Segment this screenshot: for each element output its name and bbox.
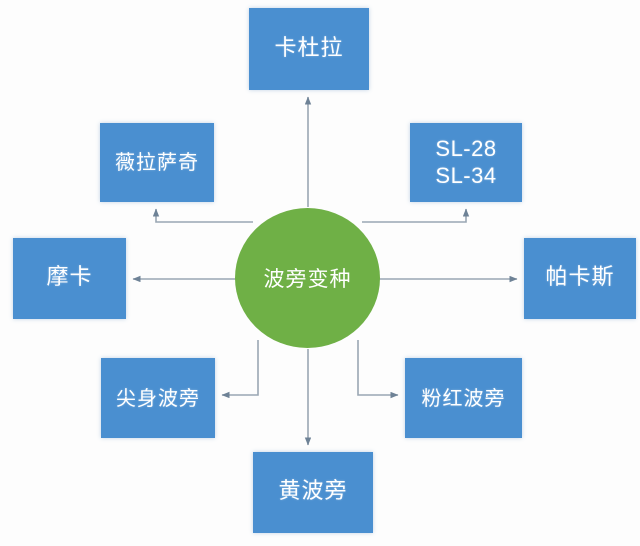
node-fenhong[interactable]: 粉红波旁 — [405, 358, 522, 438]
connector-center-to-fenhong — [358, 340, 398, 395]
connector-center-to-jianshen — [222, 340, 258, 395]
node-sl-label-line1: SL-28 — [410, 136, 522, 163]
node-huang-label: 黄波旁 — [253, 479, 373, 506]
node-katura-label: 卡杜拉 — [249, 36, 369, 63]
node-pakasi[interactable]: 帕卡斯 — [524, 238, 636, 319]
connector-center-to-weilasaqi — [156, 209, 253, 222]
node-jianshen[interactable]: 尖身波旁 — [101, 358, 215, 438]
node-katura[interactable]: 卡杜拉 — [249, 8, 369, 90]
diagram-canvas: 卡杜拉 薇拉萨奇 SL-28 SL-34 摩卡 帕卡斯 尖身波旁 粉红波旁 黄波… — [0, 0, 640, 546]
node-sl[interactable]: SL-28 SL-34 — [410, 123, 522, 202]
node-weilasaqi[interactable]: 薇拉萨奇 — [100, 123, 214, 202]
node-center-label: 波旁变种 — [264, 263, 352, 293]
node-huang[interactable]: 黄波旁 — [253, 452, 373, 533]
node-jianshen-label: 尖身波旁 — [101, 386, 215, 410]
node-pakasi-label: 帕卡斯 — [524, 265, 636, 292]
node-moka-label: 摩卡 — [13, 265, 126, 292]
node-sl-label-line2: SL-34 — [410, 163, 522, 190]
connector-center-to-sl — [362, 209, 466, 222]
node-weilasaqi-label: 薇拉萨奇 — [100, 150, 214, 174]
node-moka[interactable]: 摩卡 — [13, 238, 126, 319]
node-fenhong-label: 粉红波旁 — [405, 386, 522, 410]
node-center-hub[interactable]: 波旁变种 — [235, 208, 380, 348]
